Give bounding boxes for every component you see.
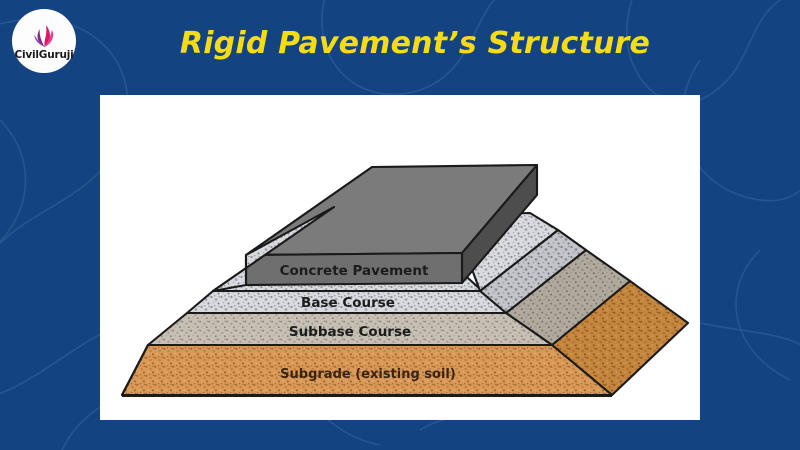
page-title: Rigid Pavement’s Structure [0, 26, 800, 61]
layer-label-subgrade: Subgrade (existing soil) [280, 367, 456, 382]
diagram-panel: Concrete Pavement Base Course Subbase Co… [100, 95, 700, 420]
layer-label-concrete-pavement: Concrete Pavement [280, 263, 429, 279]
layer-label-base-course: Base Course [301, 295, 395, 311]
pavement-structure-diagram: Concrete Pavement Base Course Subbase Co… [100, 95, 700, 420]
layer-label-subbase-course: Subbase Course [289, 324, 411, 340]
slide-canvas: CivilGuruji Rigid Pavement’s Structure [0, 0, 800, 450]
